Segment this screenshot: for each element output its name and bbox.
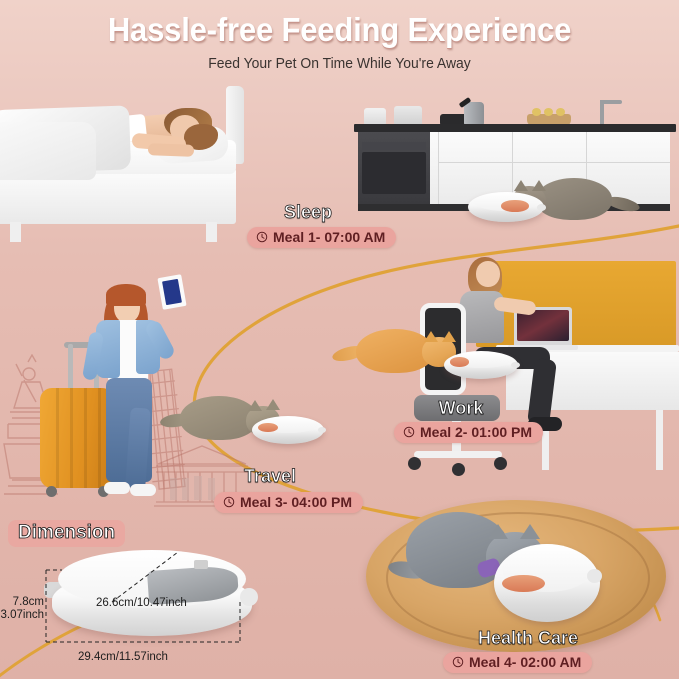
duvet-fold (0, 122, 96, 180)
faucet (600, 100, 604, 126)
office-chair-base (414, 451, 502, 458)
dish-stack (394, 106, 422, 126)
cat-ear (442, 331, 456, 342)
badge-meal-4: Meal 4- 02:00 AM (443, 652, 592, 673)
badge-meal-2: Meal 2- 01:00 PM (394, 422, 543, 443)
traveler-shoe (130, 484, 156, 496)
cat-body (536, 178, 612, 220)
badge-meal-3-text: Meal 3- 04:00 PM (240, 494, 352, 510)
suitcase-wheel (46, 486, 57, 497)
feeder-device-work (444, 351, 518, 379)
feeder-knob (318, 427, 327, 433)
dimension-diagonal: 26.6cm/10.47inch (96, 597, 187, 609)
chair-caster (408, 457, 421, 470)
feeder-food (501, 200, 528, 211)
traveler-shoe (104, 482, 130, 494)
countertop (354, 124, 676, 132)
fruit (544, 108, 553, 116)
header: Hassle-free Feeding Experience Feed Your… (0, 0, 679, 72)
cat-ear (248, 400, 262, 411)
suitcase-handle-bar (68, 344, 73, 392)
bed-leg (10, 222, 21, 242)
sleeper-arm (148, 143, 194, 157)
dimension-height: 7.8cm 3.07inch (0, 596, 44, 622)
laptop-screen (517, 310, 569, 341)
chair-caster (494, 457, 507, 470)
worker-head (476, 261, 500, 287)
cat-ear (488, 524, 508, 539)
label-travel: Travel (210, 466, 330, 487)
fruit (532, 108, 541, 116)
passport (157, 274, 186, 310)
scene-work (356, 255, 679, 500)
desk-leg (656, 410, 663, 470)
bed-leg (206, 222, 217, 242)
label-sleep: Sleep (228, 202, 388, 223)
kettle (464, 102, 484, 126)
dimension-width: 29.4cm/11.57inch (78, 651, 168, 663)
fruit (556, 108, 565, 116)
clock-icon (403, 426, 415, 438)
label-health-care: Health Care (448, 628, 608, 649)
chair-caster (452, 463, 465, 476)
cabinet-seam (438, 162, 670, 163)
feeder-knob (537, 204, 546, 211)
scene-dimension: Dimension 7.8cm 3.07inch 26.6cm/10.47inc… (0, 512, 320, 679)
cat-ear (266, 399, 280, 410)
oven-control-panel (362, 142, 426, 150)
dimension-height-cm: 7.8cm (0, 596, 44, 609)
badge-meal-1-text: Meal 1- 07:00 AM (273, 229, 385, 245)
badge-meal-4-text: Meal 4- 02:00 AM (469, 654, 581, 670)
scene-kitchen (342, 96, 679, 224)
page-subtitle: Feed Your Pet On Time While You're Away (14, 49, 666, 72)
dimension-height-inch: 3.07inch (0, 609, 44, 622)
cabinet-seam (438, 132, 439, 204)
feeder-device-kitchen (468, 192, 544, 222)
clock-icon (452, 656, 464, 668)
clock-icon (223, 496, 235, 508)
suitcase (40, 388, 114, 488)
badge-meal-2-text: Meal 2- 01:00 PM (420, 424, 532, 440)
feeder-device-health (494, 544, 600, 622)
feeder-device-travel (252, 416, 324, 444)
page-title: Hassle-free Feeding Experience (20, 0, 658, 49)
badge-meal-1: Meal 1- 07:00 AM (247, 227, 396, 248)
cat-ear (520, 524, 540, 539)
feeder-knob (587, 569, 602, 583)
cat-ear (514, 180, 528, 191)
feeder-food (258, 423, 278, 433)
scene-sleep-bed (0, 92, 242, 224)
cat-ear (532, 180, 546, 191)
oven-door (362, 152, 426, 194)
clock-icon (256, 231, 268, 243)
infographic-page: Hassle-free Feeding Experience Feed Your… (0, 0, 679, 679)
traveler-hair-top (106, 284, 146, 306)
cat-ear (424, 331, 438, 342)
badge-meal-3: Meal 3- 04:00 PM (214, 492, 363, 513)
feeder-food (450, 357, 469, 367)
label-work: Work (406, 398, 516, 419)
